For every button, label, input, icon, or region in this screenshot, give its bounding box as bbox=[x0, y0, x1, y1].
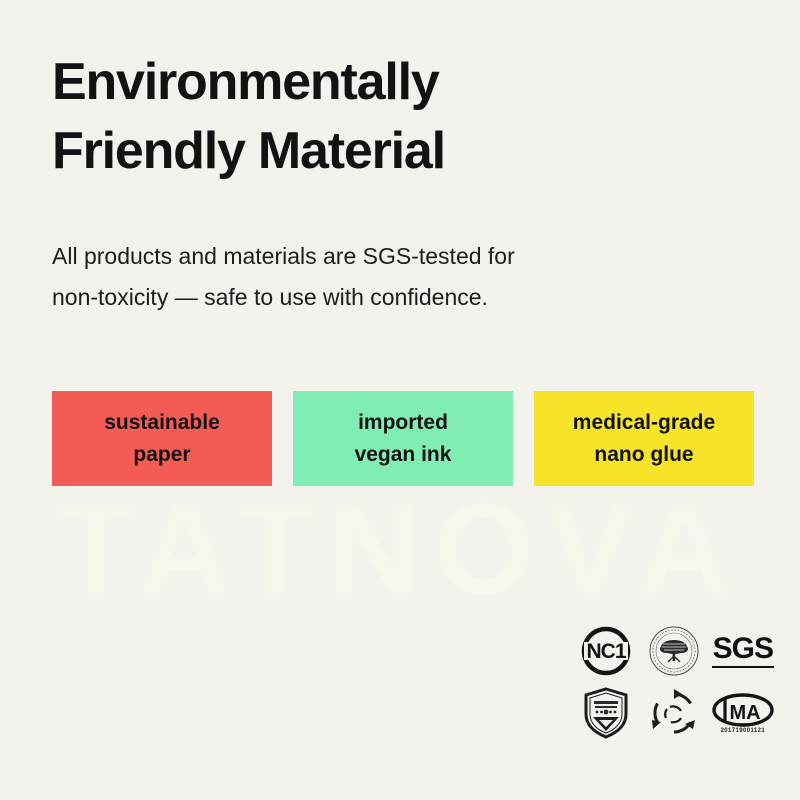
nc1-certification-icon: NC1 bbox=[575, 620, 637, 682]
tree-seal-certification-icon bbox=[643, 620, 705, 682]
sgs-certification-icon: SGS bbox=[712, 620, 774, 682]
page-title: Environmentally Friendly Material bbox=[52, 48, 752, 186]
page-title-line-2: Friendly Material bbox=[52, 117, 752, 186]
material-tag-sustainable-paper: sustainable paper bbox=[52, 391, 272, 486]
svg-text:MA: MA bbox=[729, 702, 760, 724]
poster-canvas: TATNOVA Environmentally Friendly Materia… bbox=[0, 0, 800, 800]
material-tag-label-line-1: medical-grade bbox=[573, 407, 715, 439]
sgs-underline bbox=[712, 666, 774, 668]
material-tag-label-line-2: vegan ink bbox=[355, 439, 452, 471]
material-tag-label-line-2: paper bbox=[133, 439, 190, 471]
page-subtitle-line-1: All products and materials are SGS-teste… bbox=[52, 236, 692, 277]
certification-badge-grid: NC1 bbox=[572, 620, 777, 744]
material-tag-imported-vegan-ink: imported vegan ink bbox=[293, 391, 513, 486]
svg-text:NC1: NC1 bbox=[587, 640, 627, 663]
material-tag-label-line-1: imported bbox=[358, 407, 448, 439]
material-tag-label-line-1: sustainable bbox=[104, 407, 220, 439]
material-tag-label-line-2: nano glue bbox=[594, 439, 693, 471]
material-tag-list: sustainable paper imported vegan ink med… bbox=[52, 391, 754, 486]
page-title-line-1: Environmentally bbox=[52, 48, 752, 117]
cma-certificate-number: 201719001121 bbox=[721, 728, 766, 734]
page-subtitle: All products and materials are SGS-teste… bbox=[52, 236, 692, 318]
recycle-certification-icon bbox=[643, 682, 705, 744]
material-tag-medical-grade-nano-glue: medical-grade nano glue bbox=[534, 391, 754, 486]
sgs-label: SGS bbox=[713, 634, 773, 664]
shield-certification-icon bbox=[575, 682, 637, 744]
page-subtitle-line-2: non-toxicity — safe to use with confiden… bbox=[52, 277, 692, 318]
cma-certification-icon: MA 201719001121 bbox=[712, 682, 774, 744]
brand-watermark: TATNOVA bbox=[0, 486, 800, 614]
